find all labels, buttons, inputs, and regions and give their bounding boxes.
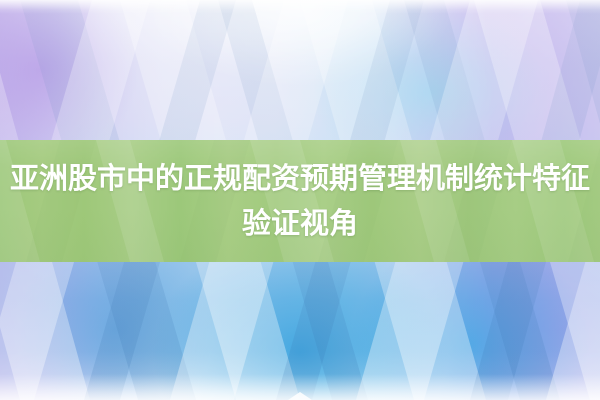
top-edge-fade: [0, 0, 600, 14]
banner-title: 亚洲股市中的正规配资预期管理机制统计特征验证视角: [6, 156, 594, 246]
promo-banner-image: 亚洲股市中的正规配资预期管理机制统计特征验证视角: [0, 0, 600, 400]
title-container: 亚洲股市中的正规配资预期管理机制统计特征验证视角: [0, 140, 600, 262]
bottom-edge-fade: [0, 374, 600, 400]
